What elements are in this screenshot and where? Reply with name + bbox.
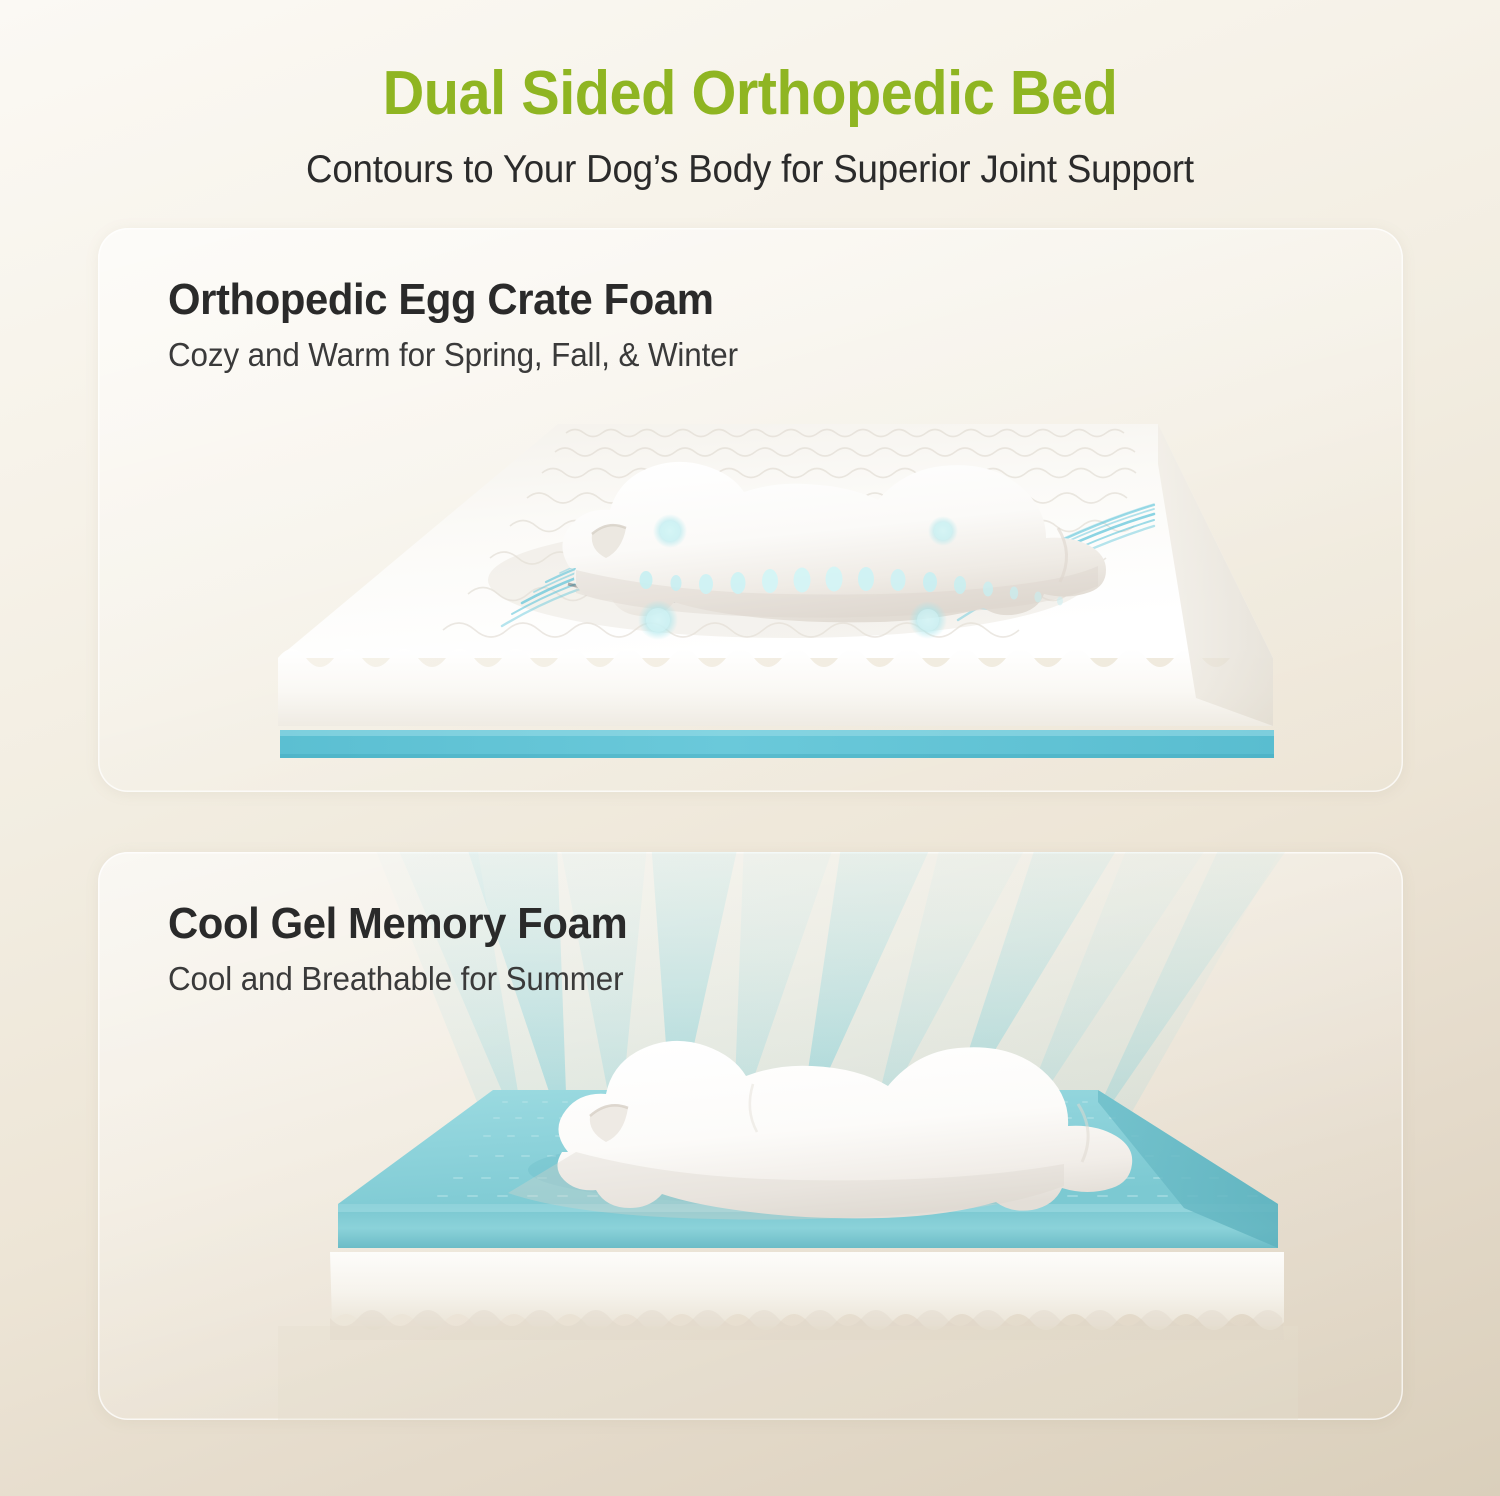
feature-card-cool-gel: Cool Gel Memory Foam Cool and Breathable… <box>98 852 1403 1420</box>
page-header: Dual Sided Orthopedic Bed Contours to Yo… <box>0 0 1500 194</box>
cool-gel-card-header: Cool Gel Memory Foam Cool and Breathable… <box>98 852 1403 998</box>
feature-card-egg-crate: Orthopedic Egg Crate Foam Cozy and Warm … <box>98 228 1403 792</box>
card-title-egg-crate: Orthopedic Egg Crate Foam <box>168 276 1341 324</box>
feature-cards: Orthopedic Egg Crate Foam Cozy and Warm … <box>0 228 1500 1420</box>
card-subtitle-egg-crate: Cozy and Warm for Spring, Fall, & Winter <box>168 336 1341 374</box>
page-title: Dual Sided Orthopedic Bed <box>53 58 1448 129</box>
card-title-cool-gel: Cool Gel Memory Foam <box>168 900 1341 948</box>
egg-crate-card-header: Orthopedic Egg Crate Foam Cozy and Warm … <box>98 228 1403 374</box>
card-subtitle-cool-gel: Cool and Breathable for Summer <box>168 960 1341 998</box>
page-subtitle: Contours to Your Dog’s Body for Superior… <box>45 147 1455 194</box>
